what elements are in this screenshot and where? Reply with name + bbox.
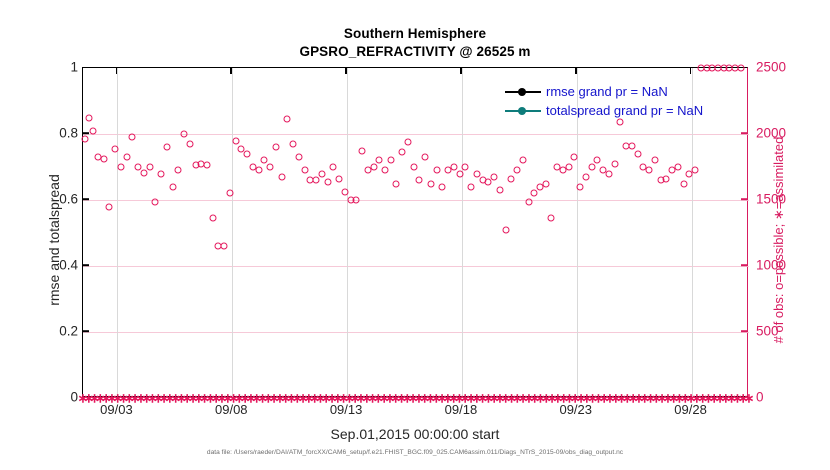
obs-possible-marker (462, 164, 469, 171)
obs-possible-marker (404, 139, 411, 146)
obs-possible-marker (370, 164, 377, 171)
right-tick-mark (741, 198, 748, 200)
obs-possible-marker (255, 167, 262, 174)
obs-possible-marker (284, 116, 291, 123)
left-tick-label: 0.4 (59, 258, 78, 273)
obs-possible-marker (393, 180, 400, 187)
obs-possible-marker (85, 114, 92, 121)
obs-possible-marker (628, 142, 635, 149)
obs-possible-marker (324, 178, 331, 185)
obs-possible-marker (100, 155, 107, 162)
obs-possible-marker (416, 177, 423, 184)
left-tick-mark (82, 198, 89, 200)
obs-possible-marker (588, 164, 595, 171)
obs-possible-marker (519, 157, 526, 164)
obs-possible-marker (410, 164, 417, 171)
left-tick-label: 0 (70, 390, 78, 405)
obs-possible-marker (129, 134, 136, 141)
obs-possible-marker (577, 183, 584, 190)
left-tick-label: 0.6 (59, 192, 78, 207)
x-tick-label: 09/28 (674, 402, 707, 417)
left-axis-label: rmse and totalspread (46, 90, 62, 390)
obs-possible-marker (427, 180, 434, 187)
obs-possible-marker (123, 154, 130, 161)
gridline-horizontal (83, 266, 749, 267)
right-tick-mark (741, 132, 748, 134)
obs-possible-marker (594, 157, 601, 164)
obs-possible-marker (353, 197, 360, 204)
obs-possible-marker (473, 170, 480, 177)
obs-possible-marker (565, 164, 572, 171)
x-axis-label: Sep.01,2015 00:00:00 start (0, 426, 830, 442)
left-tick-label: 1 (70, 60, 78, 75)
gridline-vertical (117, 68, 118, 398)
obs-possible-marker (301, 167, 308, 174)
obs-possible-marker (221, 243, 228, 250)
gridline-horizontal (83, 332, 749, 333)
obs-possible-marker (146, 164, 153, 171)
gridline-vertical (232, 68, 233, 398)
obs-possible-marker (232, 137, 239, 144)
obs-possible-marker (491, 173, 498, 180)
obs-possible-marker (531, 190, 538, 197)
x-tick-mark (690, 67, 692, 74)
x-tick-mark (230, 67, 232, 74)
x-tick-label: 09/08 (215, 402, 248, 417)
obs-possible-marker (381, 167, 388, 174)
obs-possible-marker (330, 164, 337, 171)
obs-possible-marker (169, 183, 176, 190)
obs-possible-marker (158, 171, 165, 178)
obs-possible-marker (290, 140, 297, 147)
obs-possible-marker (313, 177, 320, 184)
obs-possible-marker (267, 164, 274, 171)
x-tick-label: 09/13 (330, 402, 363, 417)
obs-possible-marker (514, 167, 521, 174)
x-tick-label: 09/18 (445, 402, 478, 417)
gridline-horizontal (83, 200, 749, 201)
legend-item: rmse grand pr = NaN (505, 82, 745, 101)
obs-possible-marker (651, 157, 658, 164)
obs-possible-marker (295, 154, 302, 161)
gridline-vertical (462, 68, 463, 398)
gridline-vertical (347, 68, 348, 398)
right-tick-label: 0 (756, 390, 764, 405)
obs-possible-marker (272, 144, 279, 151)
obs-possible-marker (106, 203, 113, 210)
obs-possible-marker (336, 175, 343, 182)
obs-possible-marker (663, 175, 670, 182)
legend-marker-icon (505, 105, 541, 117)
left-tick-label: 0.8 (59, 126, 78, 141)
obs-possible-marker (439, 183, 446, 190)
right-tick-mark (741, 330, 748, 332)
obs-possible-marker (456, 170, 463, 177)
obs-possible-marker (261, 157, 268, 164)
obs-possible-marker (674, 164, 681, 171)
obs-assimilated-marker: ∗ (744, 392, 755, 405)
obs-possible-marker (341, 188, 348, 195)
obs-possible-marker (90, 127, 97, 134)
chart-title-line2: GPSRO_REFRACTIVITY @ 26525 m (0, 44, 830, 59)
obs-possible-marker (433, 167, 440, 174)
obs-possible-marker (387, 157, 394, 164)
obs-possible-marker (204, 162, 211, 169)
obs-possible-marker (582, 173, 589, 180)
obs-possible-marker (634, 150, 641, 157)
obs-possible-marker (376, 157, 383, 164)
obs-possible-marker (737, 65, 744, 72)
right-tick-label: 2500 (756, 60, 786, 75)
obs-possible-marker (117, 164, 124, 171)
obs-possible-marker (542, 180, 549, 187)
data-file-caption: data file: /Users/raeder/DAI/ATM_forcXX/… (0, 449, 830, 456)
left-tick-label: 0.2 (59, 324, 78, 339)
obs-possible-marker (226, 190, 233, 197)
right-axis-label: # of obs: o=possible; ∗=assimilated (771, 90, 787, 390)
legend-marker-icon (505, 86, 541, 98)
obs-possible-marker (646, 167, 653, 174)
x-tick-label: 09/03 (100, 402, 133, 417)
x-tick-mark (116, 67, 118, 74)
left-tick-mark (82, 264, 89, 266)
obs-possible-marker (244, 150, 251, 157)
obs-possible-marker (502, 226, 509, 233)
obs-possible-marker (186, 140, 193, 147)
x-tick-label: 09/23 (559, 402, 592, 417)
obs-possible-marker (175, 167, 182, 174)
obs-possible-marker (152, 198, 159, 205)
obs-possible-marker (399, 149, 406, 156)
obs-possible-marker (605, 170, 612, 177)
obs-possible-marker (278, 173, 285, 180)
obs-possible-marker (508, 175, 515, 182)
chart-canvas: Southern Hemisphere GPSRO_REFRACTIVITY @… (0, 0, 830, 470)
right-tick-mark (741, 264, 748, 266)
obs-possible-marker (181, 131, 188, 138)
obs-possible-marker (318, 170, 325, 177)
legend-label: totalspread grand pr = NaN (546, 103, 703, 118)
legend-label: rmse grand pr = NaN (546, 84, 668, 99)
obs-possible-marker (525, 198, 532, 205)
obs-possible-marker (450, 164, 457, 171)
obs-possible-marker (680, 180, 687, 187)
obs-possible-marker (209, 215, 216, 222)
obs-possible-marker (571, 154, 578, 161)
x-tick-mark (460, 67, 462, 74)
x-tick-mark (575, 67, 577, 74)
chart-title-line1: Southern Hemisphere (0, 26, 830, 41)
obs-possible-marker (163, 144, 170, 151)
obs-possible-marker (82, 135, 89, 142)
obs-possible-marker (140, 169, 147, 176)
obs-possible-marker (548, 215, 555, 222)
x-tick-mark (345, 67, 347, 74)
obs-possible-marker (112, 145, 119, 152)
left-tick-mark (82, 330, 89, 332)
obs-possible-marker (692, 167, 699, 174)
obs-possible-marker (359, 147, 366, 154)
obs-possible-marker (468, 183, 475, 190)
obs-possible-marker (422, 154, 429, 161)
legend-item: totalspread grand pr = NaN (505, 101, 745, 120)
legend: rmse grand pr = NaNtotalspread grand pr … (505, 82, 745, 120)
obs-possible-marker (496, 187, 503, 194)
obs-possible-marker (611, 160, 618, 167)
left-tick-mark (82, 132, 89, 134)
